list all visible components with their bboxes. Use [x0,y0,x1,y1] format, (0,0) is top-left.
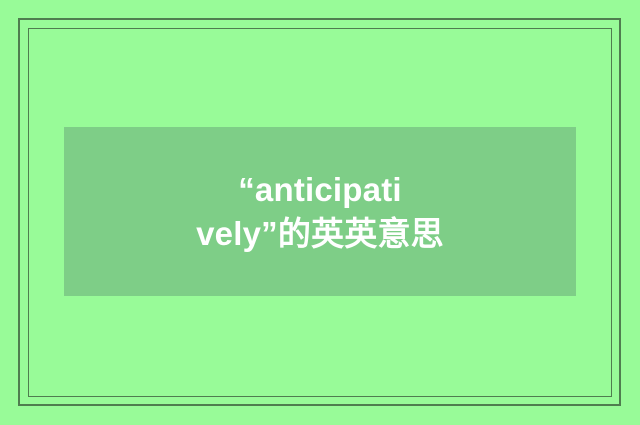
page-title: “anticipati vely”的英英意思 [188,168,452,256]
title-card-panel: “anticipati vely”的英英意思 [64,127,576,296]
page-canvas: “anticipati vely”的英英意思 [0,0,640,425]
